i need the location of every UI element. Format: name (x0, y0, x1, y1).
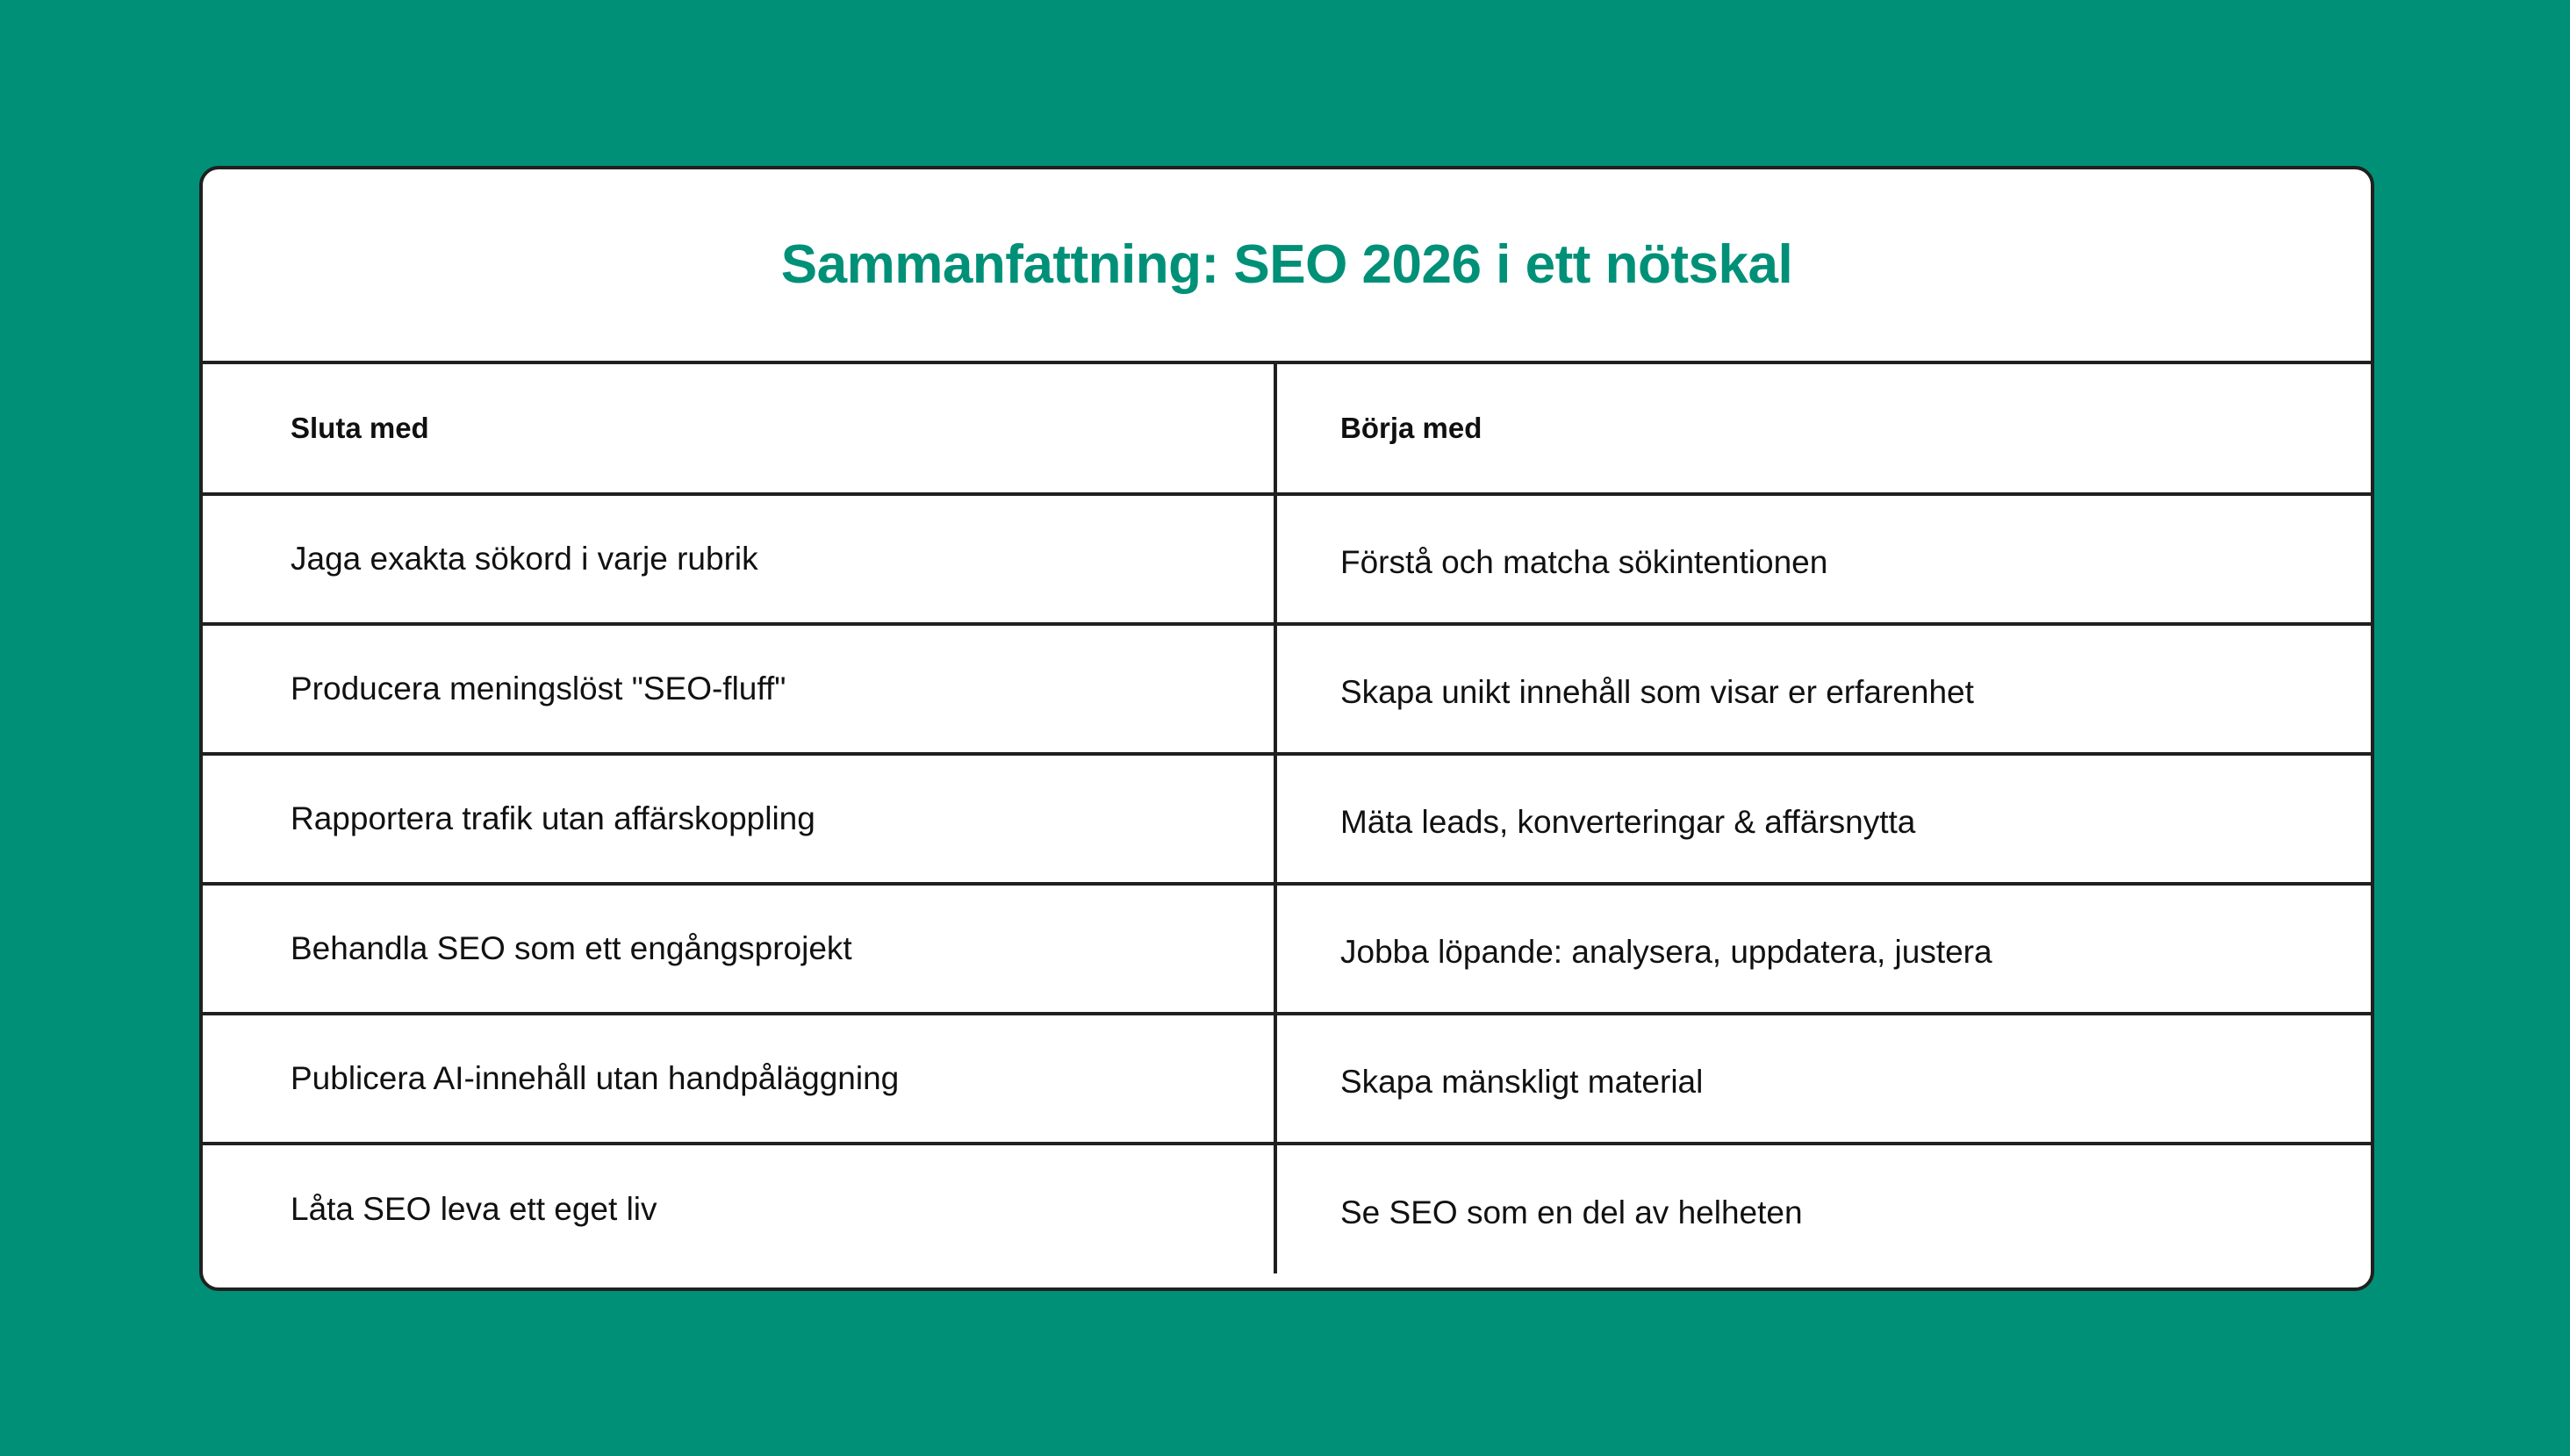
page-background: Sammanfattning: SEO 2026 i ett nötskal S… (0, 0, 2570, 1456)
table-body: Jaga exakta sökord i varje rubrik Förstå… (203, 494, 2371, 1273)
start-item-text: Skapa mänskligt material (1277, 1054, 2371, 1103)
table-cell-stop: Rapportera trafik utan affärskoppling (203, 754, 1275, 884)
table-cell-start: Skapa unikt innehåll som visar er erfare… (1275, 624, 2371, 754)
start-item-text: Skapa unikt innehåll som visar er erfare… (1277, 664, 2371, 714)
stop-item-text: Producera meningslöst "SEO-fluff" (203, 668, 1274, 710)
table-row: Jaga exakta sökord i varje rubrik Förstå… (203, 494, 2371, 624)
table-row: Behandla SEO som ett engångsprojekt Jobb… (203, 884, 2371, 1014)
stop-item-text: Låta SEO leva ett eget liv (203, 1188, 1274, 1230)
stop-item-text: Behandla SEO som ett engångsprojekt (203, 928, 1274, 970)
card-title-band: Sammanfattning: SEO 2026 i ett nötskal (203, 169, 2371, 364)
column-header-start-label: Börja med (1277, 412, 2371, 445)
table-row: Publicera AI-innehåll utan handpåläggnin… (203, 1014, 2371, 1144)
column-header-stop-label: Sluta med (203, 412, 1274, 445)
start-item-text: Jobba löpande: analysera, uppdatera, jus… (1277, 924, 2371, 973)
summary-card: Sammanfattning: SEO 2026 i ett nötskal S… (199, 166, 2374, 1291)
comparison-table: Sluta med Börja med Jaga exakta sökord i… (203, 364, 2371, 1273)
page-title: Sammanfattning: SEO 2026 i ett nötskal (781, 235, 1792, 295)
table-cell-stop: Behandla SEO som ett engångsprojekt (203, 884, 1275, 1014)
stop-item-text: Publicera AI-innehåll utan handpåläggnin… (203, 1058, 1274, 1100)
start-item-text: Förstå och matcha sökintentionen (1277, 534, 2371, 584)
table-cell-stop: Producera meningslöst "SEO-fluff" (203, 624, 1275, 754)
table-cell-start: Mäta leads, konverteringar & affärsnytta (1275, 754, 2371, 884)
table-head: Sluta med Börja med (203, 364, 2371, 494)
table-cell-start: Jobba löpande: analysera, uppdatera, jus… (1275, 884, 2371, 1014)
column-header-start: Börja med (1275, 364, 2371, 494)
stop-item-text: Rapportera trafik utan affärskoppling (203, 798, 1274, 840)
table-cell-start: Se SEO som en del av helheten (1275, 1144, 2371, 1273)
table-cell-stop: Låta SEO leva ett eget liv (203, 1144, 1275, 1273)
stop-item-text: Jaga exakta sökord i varje rubrik (203, 538, 1274, 580)
table-cell-stop: Jaga exakta sökord i varje rubrik (203, 494, 1275, 624)
start-item-text: Mäta leads, konverteringar & affärsnytta (1277, 794, 2371, 843)
column-header-stop: Sluta med (203, 364, 1275, 494)
table-cell-start: Förstå och matcha sökintentionen (1275, 494, 2371, 624)
table-cell-stop: Publicera AI-innehåll utan handpåläggnin… (203, 1014, 1275, 1144)
start-item-text: Se SEO som en del av helheten (1277, 1185, 2371, 1234)
table-row: Låta SEO leva ett eget liv Se SEO som en… (203, 1144, 2371, 1273)
table-header-row: Sluta med Börja med (203, 364, 2371, 494)
table-cell-start: Skapa mänskligt material (1275, 1014, 2371, 1144)
table-row: Producera meningslöst "SEO-fluff" Skapa … (203, 624, 2371, 754)
table-row: Rapportera trafik utan affärskoppling Mä… (203, 754, 2371, 884)
